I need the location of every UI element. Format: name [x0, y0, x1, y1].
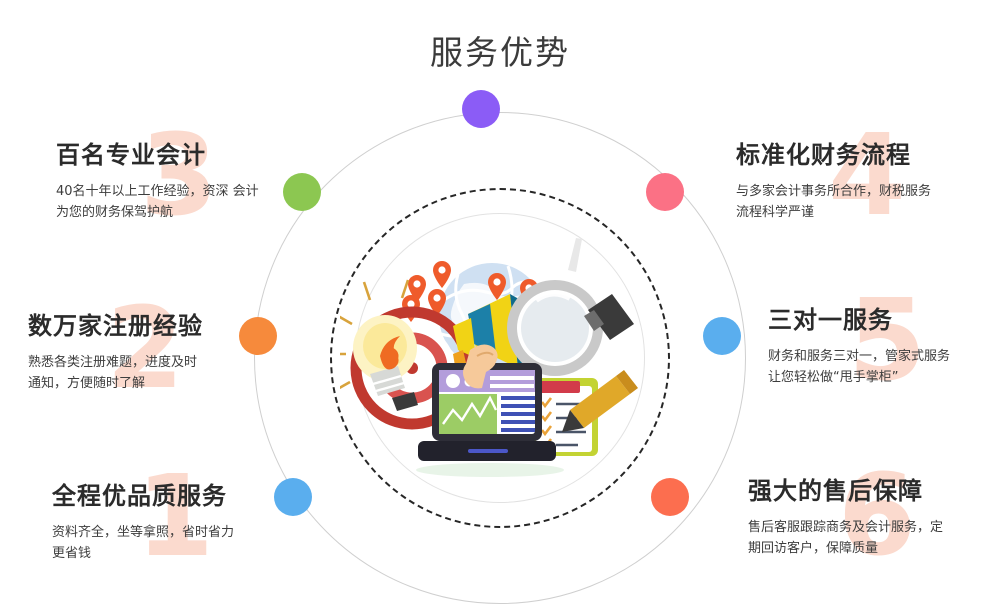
feature-item-2: 2 数万家注册经验 熟悉各类注册难题，进度及时通知，方便随时了解 [28, 313, 278, 395]
feature-item-6: 6 强大的售后保障 售后客服跟踪商务及会计服务，定期回访客户，保障质量 [748, 478, 998, 560]
feature-title: 百名专业会计 [56, 142, 306, 168]
node-dot-right-blue[interactable] [703, 317, 741, 355]
feature-title: 数万家注册经验 [28, 313, 278, 339]
laptop-icon [416, 363, 564, 477]
feature-item-1: 1 全程优品质服务 资料齐全，坐等拿照，省时省力更省钱 [52, 483, 302, 565]
feature-item-4: 4 标准化财务流程 与多家会计事务所合作，财税服务流程科学严谨 [736, 142, 984, 224]
feature-description: 财务和服务三对一，管家式服务让您轻松做“甩手掌柜” [768, 347, 1000, 389]
feature-title: 全程优品质服务 [52, 483, 302, 509]
feature-description: 熟悉各类注册难题，进度及时通知，方便随时了解 [28, 353, 278, 395]
node-dot-top-purple[interactable] [462, 90, 500, 128]
feature-description: 与多家会计事务所合作，财税服务流程科学严谨 [736, 182, 984, 224]
feature-title: 三对一服务 [768, 307, 1000, 333]
feature-item-3: 3 百名专业会计 40名十年以上工作经验，资深 会计为您的财务保驾护航 [56, 142, 306, 224]
magnifying-glass-icon [507, 238, 634, 376]
feature-title: 标准化财务流程 [736, 142, 984, 168]
feature-item-5: 5 三对一服务 财务和服务三对一，管家式服务让您轻松做“甩手掌柜” [768, 307, 1000, 389]
node-dot-right-pink[interactable] [646, 173, 684, 211]
page-title: 服务优势 [0, 26, 1000, 74]
feature-description: 售后客服跟踪商务及会计服务，定期回访客户，保障质量 [748, 518, 998, 560]
feature-description: 40名十年以上工作经验，资深 会计为您的财务保驾护航 [56, 182, 306, 224]
feature-title: 强大的售后保障 [748, 478, 998, 504]
business-services-illustration [340, 238, 660, 488]
feature-description: 资料齐全，坐等拿照，省时省力更省钱 [52, 523, 302, 565]
